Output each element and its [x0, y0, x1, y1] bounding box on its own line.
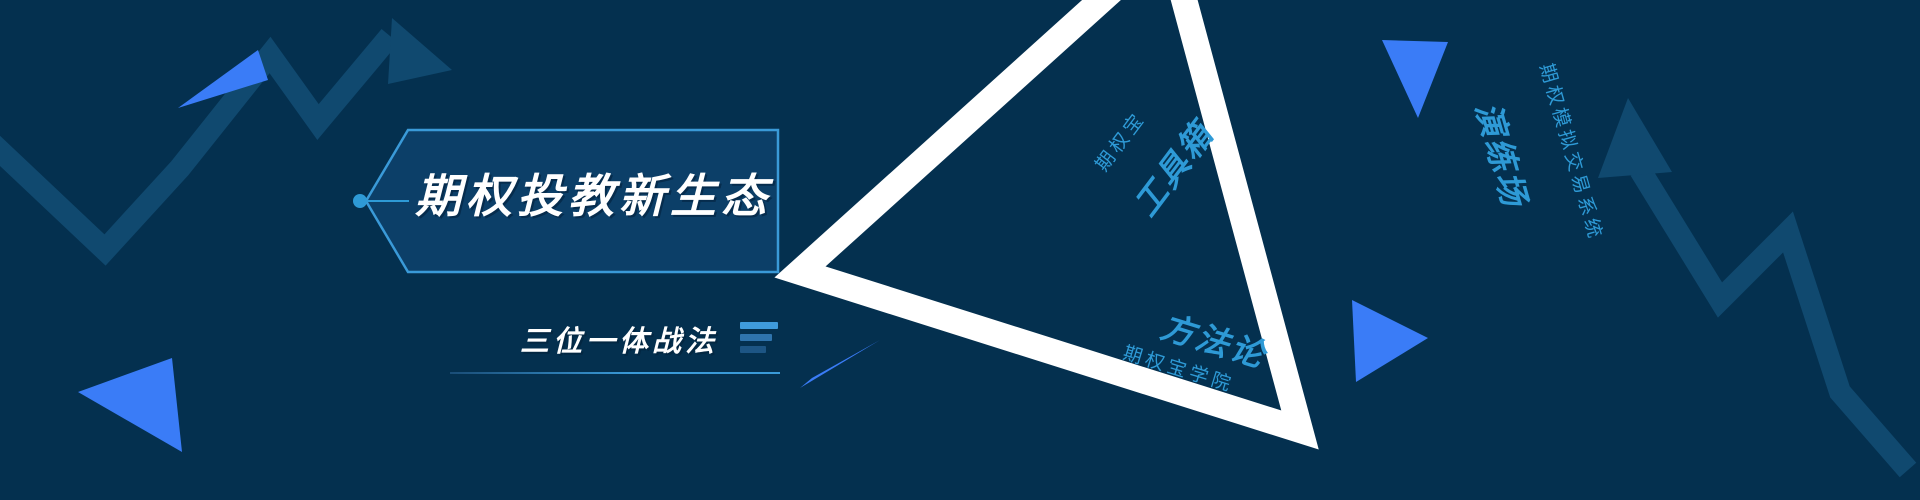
title-connector-line	[367, 200, 409, 202]
triangle-accent-lower-left	[78, 358, 182, 452]
bar-1	[740, 322, 778, 329]
title-node-dot	[353, 194, 367, 208]
banner-root: 期权投教新生态 三位一体战法 期权宝 工具箱 期权模拟交易系统 演练场 方法论 …	[0, 0, 1920, 500]
bar-2	[740, 334, 772, 341]
arrow-head-right	[1598, 98, 1672, 178]
zigzag-line-left	[0, 36, 390, 250]
three-bars-icon	[740, 322, 780, 356]
page-title: 期权投教新生态	[415, 160, 775, 226]
triangle-accent-lower-right	[1352, 300, 1428, 382]
subtitle-underline	[450, 372, 780, 374]
triangle-accent-upper-right	[1382, 40, 1448, 118]
title-block: 期权投教新生态	[360, 128, 780, 274]
zigzag-line-right	[1640, 170, 1908, 470]
arrow-head-left	[388, 18, 452, 84]
background-decoration	[0, 0, 1920, 500]
subtitle-text: 三位一体战法	[520, 318, 718, 360]
bar-3	[740, 346, 766, 353]
triangle-accent-bottom-center	[800, 340, 880, 388]
subtitle-block: 三位一体战法	[440, 318, 780, 378]
